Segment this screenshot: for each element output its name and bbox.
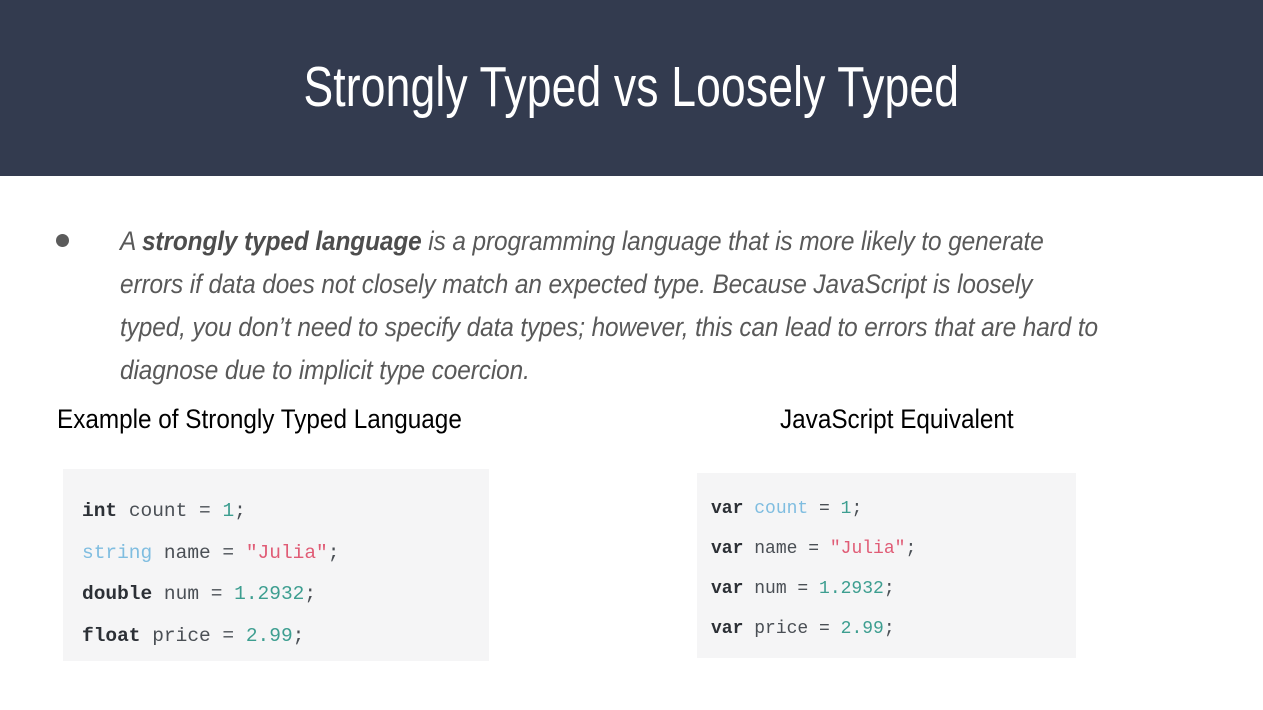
code-line: var price = 2.99; — [711, 609, 1076, 649]
code-token-kw: double — [82, 583, 152, 605]
code-token-op: = — [808, 499, 840, 519]
code-token-ident: price — [152, 625, 211, 647]
code-line: string name = "Julia"; — [82, 533, 489, 575]
left-column-heading: Example of Strongly Typed Language — [57, 404, 462, 435]
code-token-num: 2.99 — [246, 625, 293, 647]
bullet-paragraph: A strongly typed language is a programmi… — [120, 220, 1101, 392]
code-token-num: 1.2932 — [234, 583, 304, 605]
code-token-punc: ; — [884, 619, 895, 639]
code-token-op — [152, 542, 164, 564]
code-token-num: 1.2932 — [819, 579, 884, 599]
code-token-ident: count — [129, 500, 188, 522]
code-token-num: 1 — [841, 499, 852, 519]
code-token-op — [743, 499, 754, 519]
paragraph-lead: A — [120, 226, 142, 256]
code-token-ident: name — [164, 542, 211, 564]
code-token-punc: ; — [851, 499, 862, 519]
strongly-typed-code-block: int count = 1;string name = "Julia";doub… — [63, 469, 489, 661]
code-token-punc: ; — [884, 579, 895, 599]
code-token-op — [743, 539, 754, 559]
slide-header-band: Strongly Typed vs Loosely Typed — [0, 0, 1263, 176]
bullet-list-item: A strongly typed language is a programmi… — [56, 220, 1186, 392]
code-token-kw: int — [82, 500, 117, 522]
code-token-str: "Julia" — [830, 539, 906, 559]
code-token-ident-hl: count — [754, 499, 808, 519]
right-column-heading: JavaScript Equivalent — [780, 404, 1014, 435]
code-line: float price = 2.99; — [82, 616, 489, 658]
bullet-dot-icon — [56, 234, 69, 247]
code-token-op: = — [787, 579, 819, 599]
javascript-code-block: var count = 1;var name = "Julia";var num… — [697, 473, 1076, 658]
code-line: double num = 1.2932; — [82, 574, 489, 616]
code-line: var name = "Julia"; — [711, 529, 1076, 569]
code-token-punc: ; — [328, 542, 340, 564]
code-token-ident: num — [164, 583, 199, 605]
page-title: Strongly Typed vs Loosely Typed — [304, 58, 960, 118]
code-token-kw: float — [82, 625, 141, 647]
code-token-ident: name — [754, 539, 797, 559]
code-token-op: = — [187, 500, 222, 522]
code-line: var num = 1.2932; — [711, 569, 1076, 609]
code-token-op — [117, 500, 129, 522]
code-token-op — [141, 625, 153, 647]
code-token-kw: var — [711, 579, 743, 599]
code-token-op — [152, 583, 164, 605]
code-token-op: = — [808, 619, 840, 639]
code-token-str: "Julia" — [246, 542, 328, 564]
code-token-kw: var — [711, 499, 743, 519]
code-token-op: = — [797, 539, 829, 559]
code-token-op — [743, 579, 754, 599]
code-token-punc: ; — [234, 500, 246, 522]
code-token-op: = — [199, 583, 234, 605]
code-line: var count = 1; — [711, 489, 1076, 529]
code-token-num: 1 — [222, 500, 234, 522]
code-token-punc: ; — [905, 539, 916, 559]
code-token-ident: num — [754, 579, 786, 599]
code-token-kw: var — [711, 539, 743, 559]
code-token-type: string — [82, 542, 152, 564]
code-token-punc: ; — [304, 583, 316, 605]
code-token-kw: var — [711, 619, 743, 639]
code-line: int count = 1; — [82, 491, 489, 533]
code-token-op — [743, 619, 754, 639]
code-token-punc: ; — [293, 625, 305, 647]
code-token-op: = — [211, 542, 246, 564]
code-token-num: 2.99 — [841, 619, 884, 639]
code-token-op: = — [211, 625, 246, 647]
paragraph-emphasis: strongly typed language — [142, 226, 422, 256]
code-token-ident: price — [754, 619, 808, 639]
